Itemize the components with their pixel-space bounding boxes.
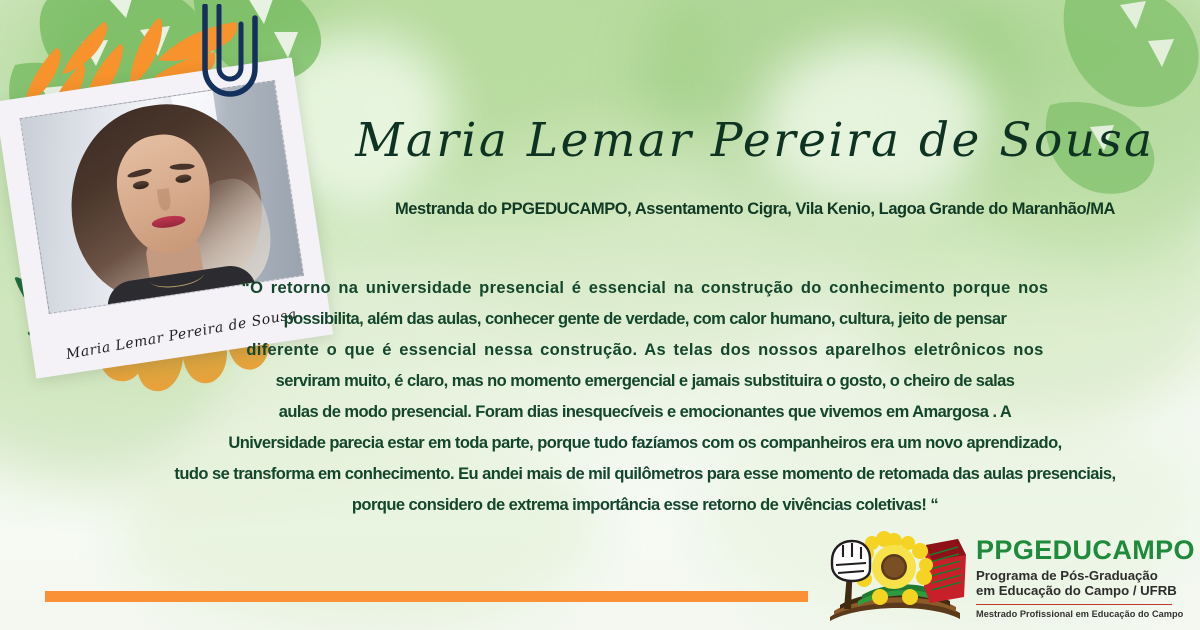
quote-line: tudo se transforma em conhecimento. Eu a… [80,459,1200,490]
logo-subtitle: Programa de Pós-Graduação em Educação do… [976,568,1195,599]
quote-line: serviram muito, é claro, mas no momento … [80,366,1200,397]
logo-mark-icon [818,531,970,623]
ppgeducampo-logo: PPGEDUCAMPO Programa de Pós-Graduação em… [818,529,1183,625]
quote-line: diferente o que é essencial nessa constr… [80,335,1200,366]
quote-line: “O retorno na universidade presencial é … [80,273,1200,304]
quote-line: Universidade parecia estar em toda parte… [80,428,1200,459]
orange-accent-bar [45,591,808,602]
affiliation-subtitle: Mestranda do PPGEDUCAMPO, Assentamento C… [330,200,1180,219]
quote-line: aulas de modo presencial. Foram dias ine… [80,397,1200,428]
poster-canvas: Maria Lemar Pereira de Sousa Maria Lemar… [0,0,1200,630]
logo-subtitle-line-2: em Educação do Campo / UFRB [976,583,1195,599]
logo-divider [976,604,1172,606]
testimonial-quote: “O retorno na universidade presencial é … [80,273,1200,521]
logo-acronym: PPGEDUCAMPO [976,537,1195,564]
quote-line: porque considero de extrema importância … [80,490,1200,521]
page-title: Maria Lemar Pereira de Sousa [330,104,1180,176]
paperclip-icon [186,4,262,108]
logo-tagline: Mestrado Profissional em Educação do Cam… [976,609,1195,619]
logo-subtitle-line-1: Programa de Pós-Graduação [976,568,1195,584]
logo-text-block: PPGEDUCAMPO Programa de Pós-Graduação em… [976,535,1195,620]
quote-line: possibilita, além das aulas, conhecer ge… [80,304,1200,335]
